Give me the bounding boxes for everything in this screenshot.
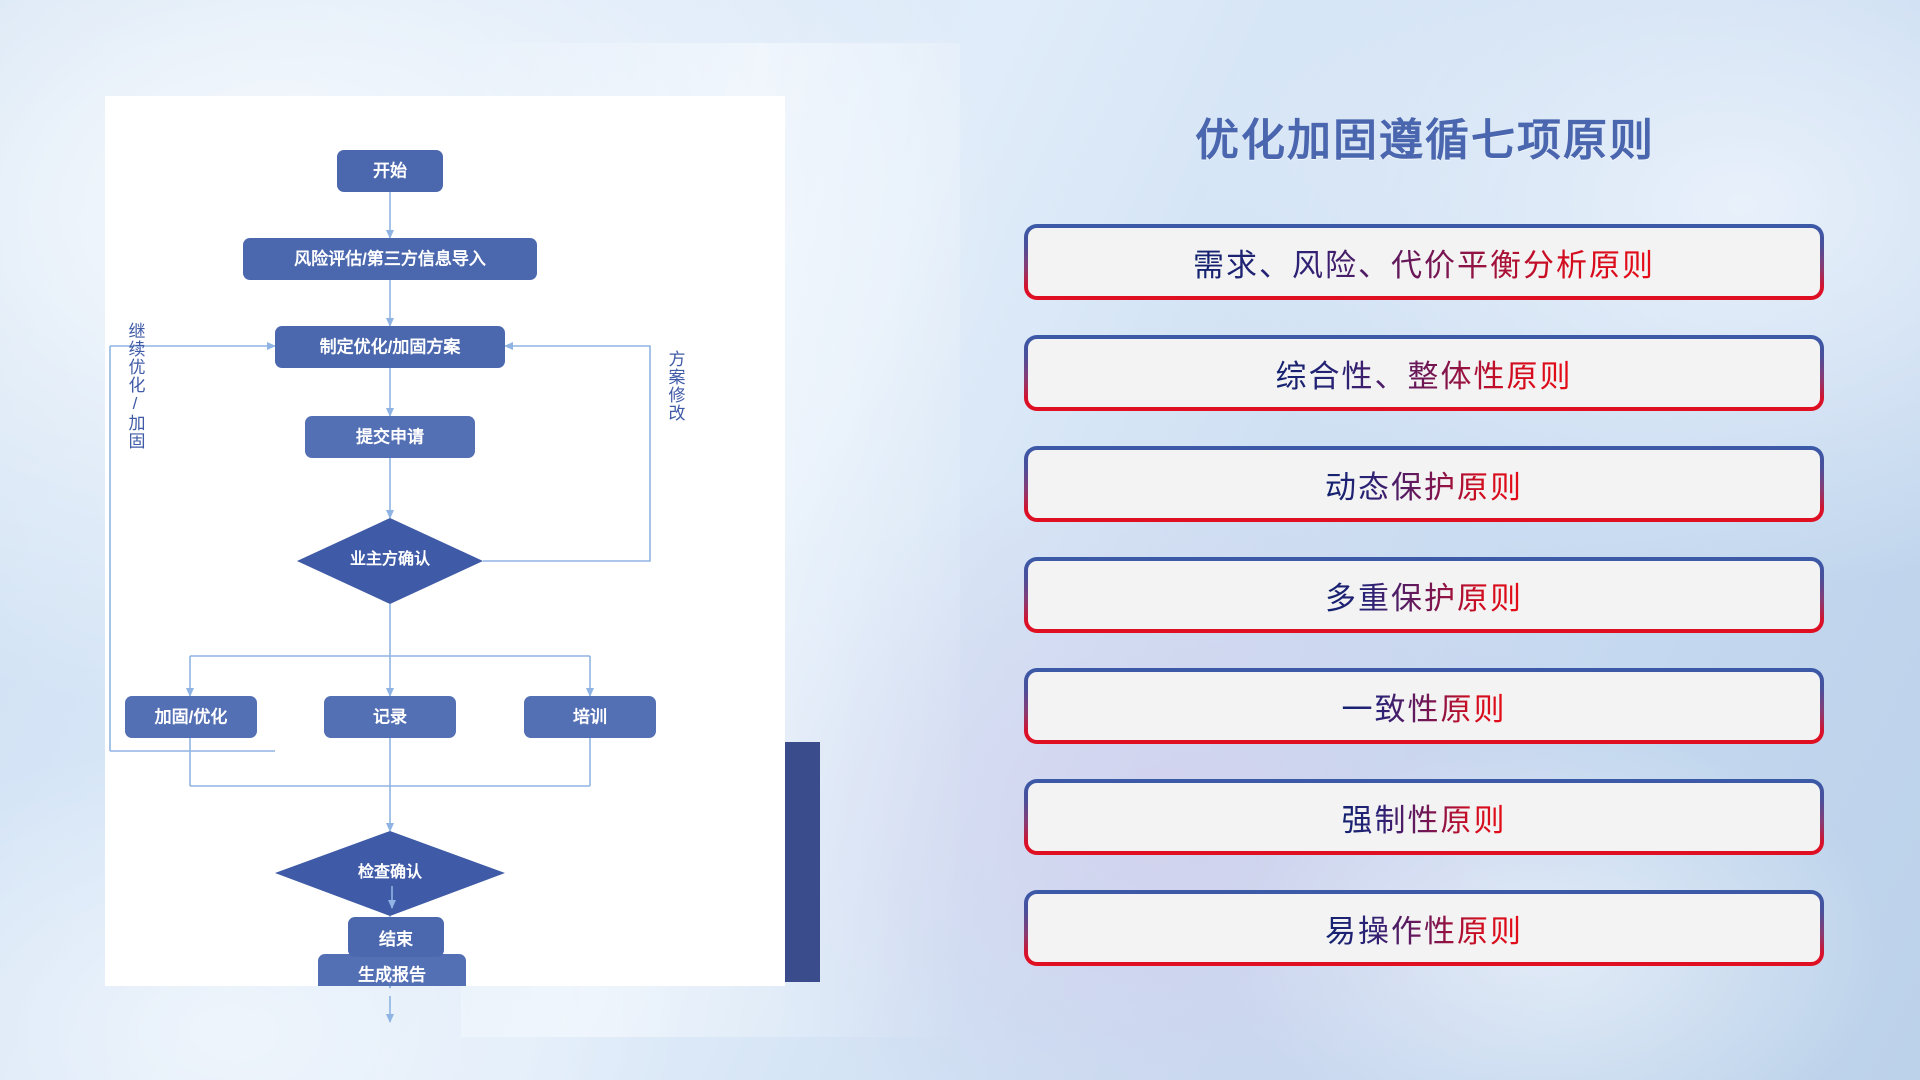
principle-card-5[interactable]: 一致性原则 <box>1024 668 1824 744</box>
principle-card-2[interactable]: 综合性、整体性原则 <box>1024 335 1824 411</box>
principle-list: 需求、风险、代价平衡分析原则 综合性、整体性原则 动态保护原则 多重保护原则 一… <box>1024 224 1824 966</box>
principle-card-1[interactable]: 需求、风险、代价平衡分析原则 <box>1024 224 1824 300</box>
principle-label: 一致性原则 <box>1342 684 1507 729</box>
principle-label: 需求、风险、代价平衡分析原则 <box>1193 240 1655 285</box>
principle-label: 动态保护原则 <box>1325 462 1523 507</box>
principle-label: 易操作性原则 <box>1325 906 1523 951</box>
page-title: 优化加固遵循七项原则 <box>1010 104 1840 168</box>
principle-label: 综合性、整体性原则 <box>1276 351 1573 396</box>
principles-panel: 优化加固遵循七项原则 需求、风险、代价平衡分析原则 综合性、整体性原则 动态保护… <box>1010 0 1920 1080</box>
principle-card-6[interactable]: 强制性原则 <box>1024 779 1824 855</box>
principle-card-7[interactable]: 易操作性原则 <box>1024 890 1824 966</box>
flowchart-end-node-layer <box>0 0 900 1080</box>
principle-label: 强制性原则 <box>1342 795 1507 840</box>
principle-card-3[interactable]: 动态保护原则 <box>1024 446 1824 522</box>
principle-label: 多重保护原则 <box>1325 573 1523 618</box>
principle-card-4[interactable]: 多重保护原则 <box>1024 557 1824 633</box>
